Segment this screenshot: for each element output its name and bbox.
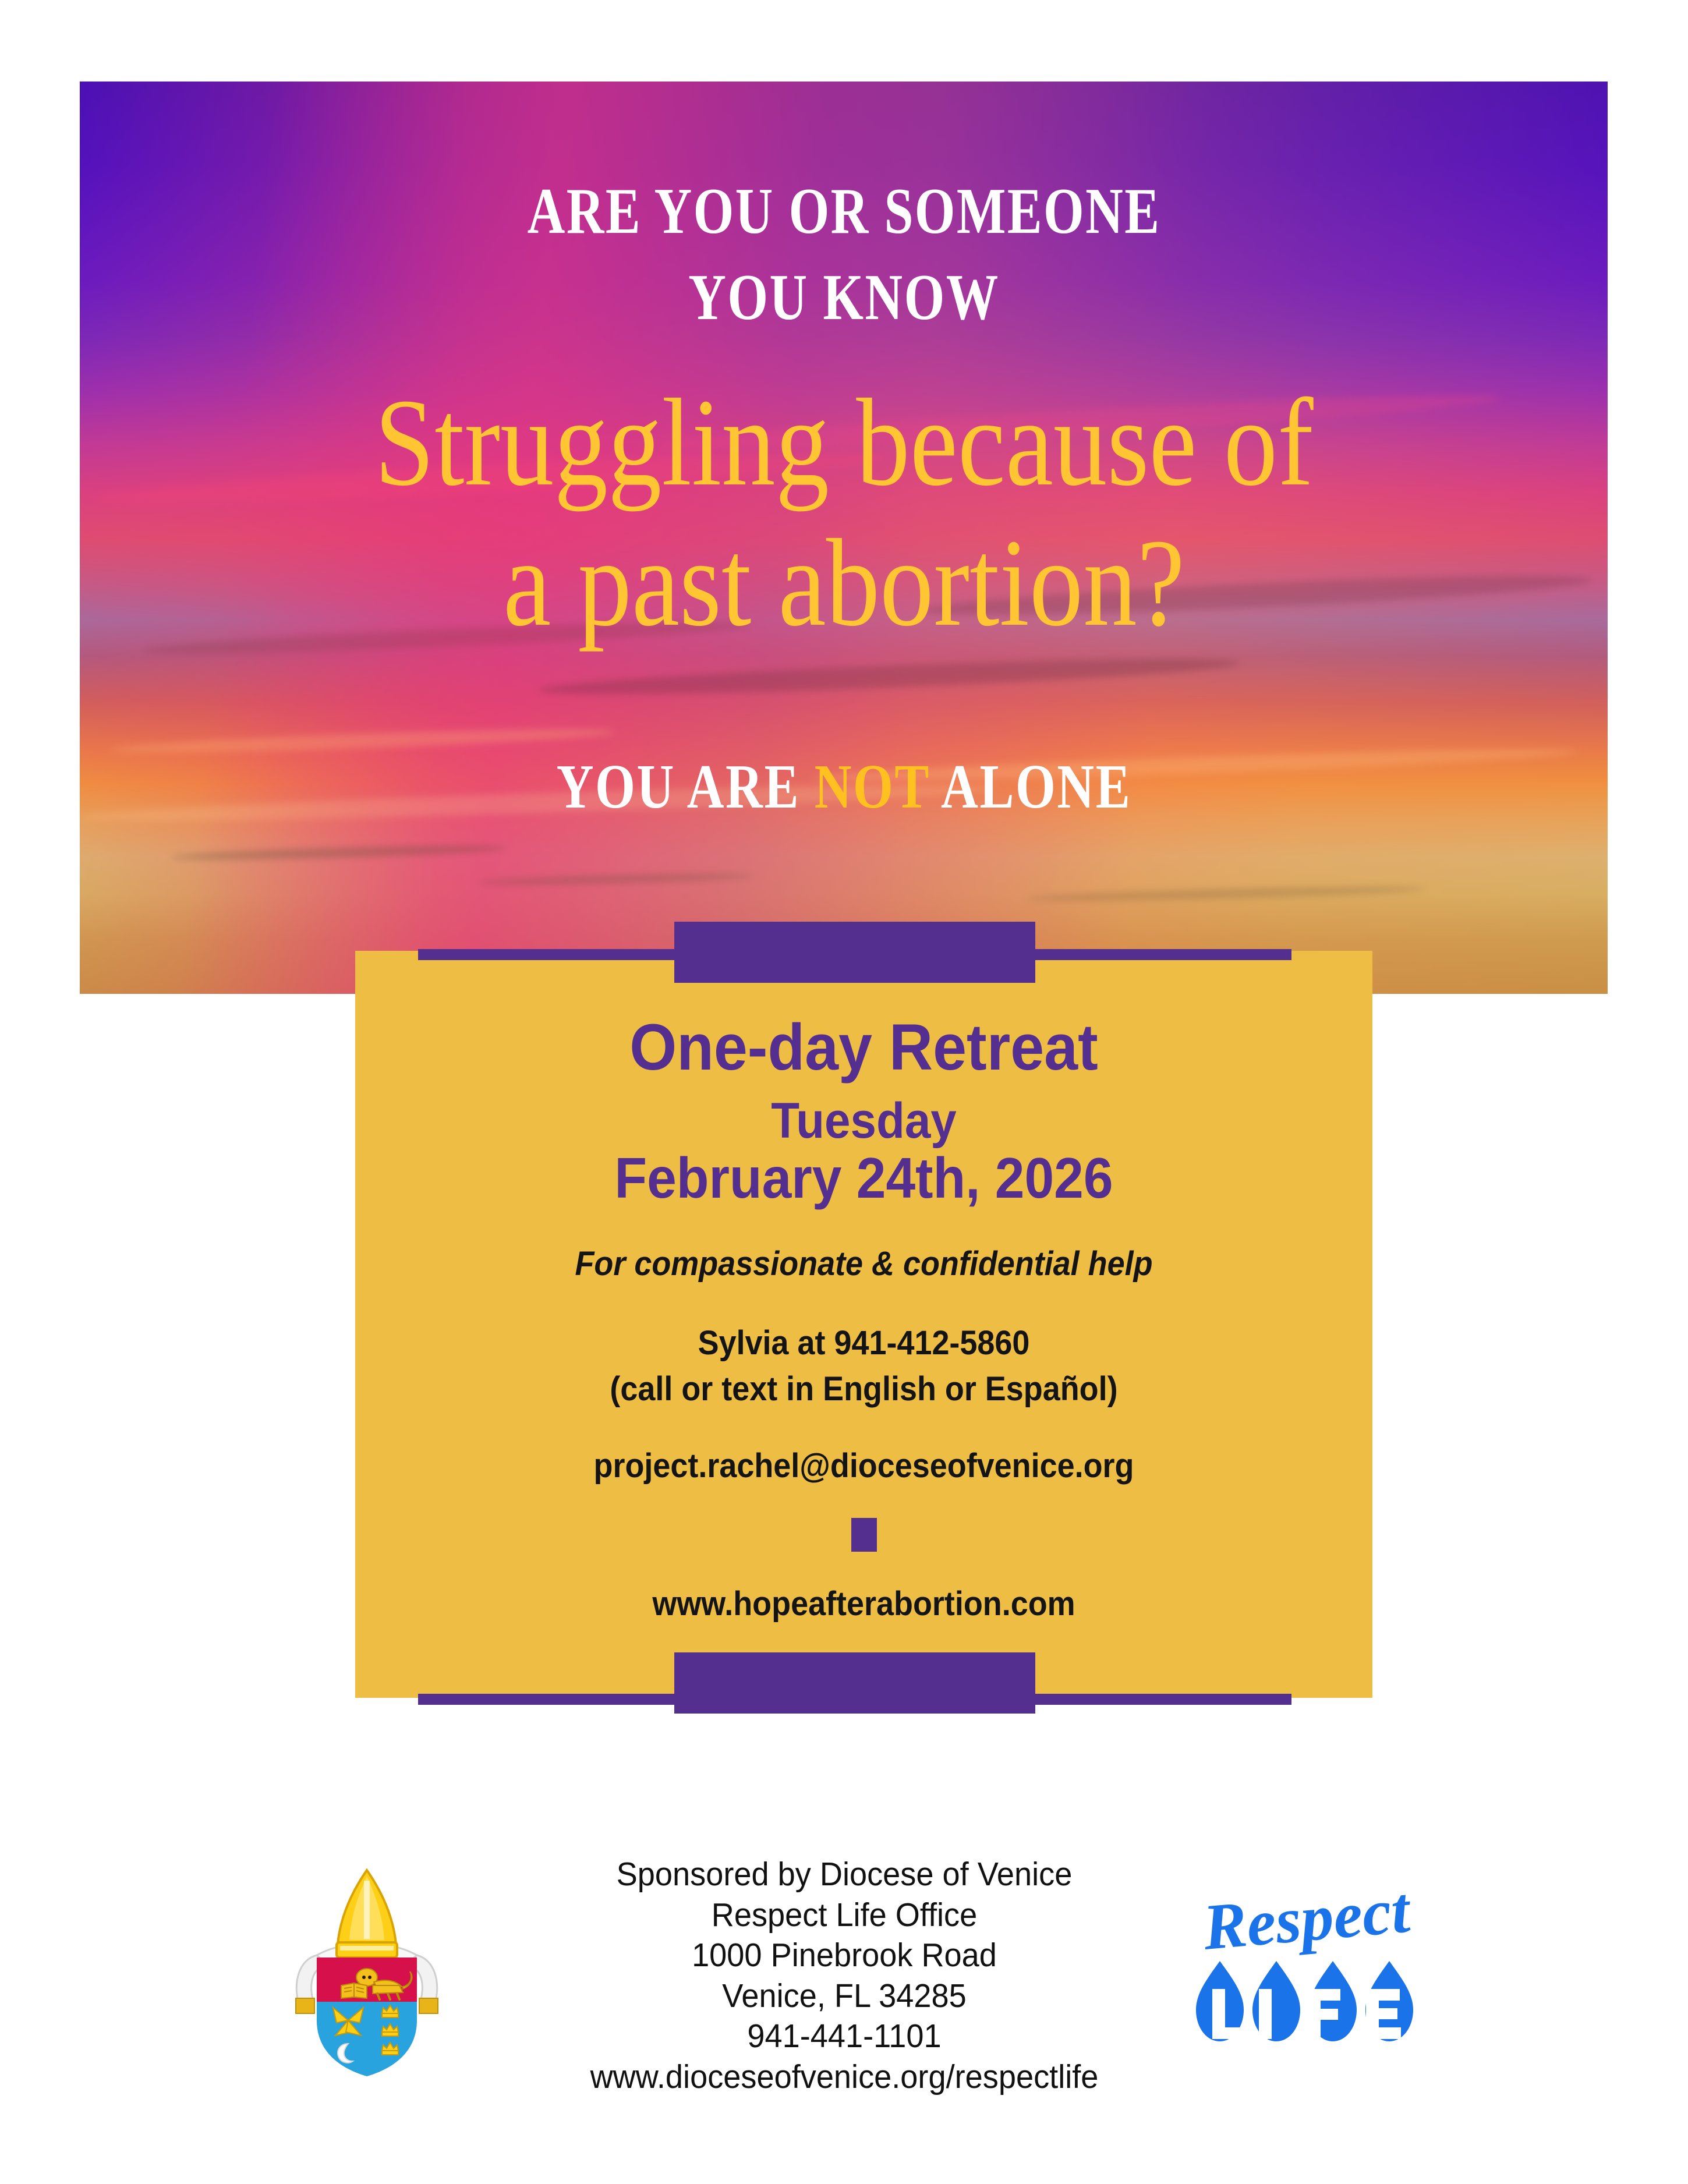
cloud-streak — [538, 652, 1241, 701]
crowns-icon — [382, 2005, 398, 2055]
mitre-icon — [337, 1870, 397, 1958]
hero-kicker: ARE YOU OR SOMEONE YOU KNOW — [169, 169, 1519, 341]
reassurance-post: ALONE — [929, 752, 1131, 822]
purple-square-divider — [851, 1518, 877, 1552]
decorative-bar-bottom — [418, 1689, 1291, 1705]
reassurance-pre: YOU ARE — [557, 752, 815, 822]
retreat-subtitle: For compassionate & confidential help — [391, 1244, 1337, 1283]
retreat-title: One-day Retreat — [391, 1014, 1337, 1081]
hero-reassurance: YOU ARE NOT ALONE — [152, 751, 1536, 823]
deco-block — [674, 922, 1035, 983]
footer: Sponsored by Diocese of Venice Respect L… — [0, 1822, 1688, 2102]
contact-phone-block: Sylvia at 941-412-5860 (call or text in … — [391, 1321, 1337, 1413]
reassurance-emphasis: NOT — [815, 752, 930, 822]
shield-icon — [317, 1958, 417, 2076]
sponsor-info: Sponsored by Diocese of Venice Respect L… — [568, 1854, 1121, 2097]
retreat-date: February 24th, 2026 — [391, 1148, 1337, 1208]
respect-life-logo: Respect — [1188, 1875, 1432, 2050]
retreat-weekday: Tuesday — [391, 1094, 1337, 1148]
open-book-icon — [341, 1983, 367, 1998]
decorative-bar-top — [418, 944, 1291, 960]
event-details-content: One-day Retreat Tuesday February 24th, 2… — [355, 1014, 1372, 1623]
cloud-streak — [1027, 884, 1424, 902]
hope-website-link[interactable]: www.hopeafterabortion.com — [391, 1584, 1337, 1623]
hero-headline: Struggling because of a past abortion? — [118, 373, 1570, 653]
event-details-panel: One-day Retreat Tuesday February 24th, 2… — [355, 951, 1372, 1698]
diocese-coat-of-arms-icon — [279, 1846, 454, 2079]
respect-script-text: Respect — [1199, 1875, 1414, 1964]
contact-email[interactable]: project.rachel@dioceseofvenice.org — [391, 1446, 1337, 1485]
cloud-streak — [477, 872, 752, 887]
deco-block — [674, 1652, 1035, 1714]
cloud-streak — [171, 843, 508, 862]
